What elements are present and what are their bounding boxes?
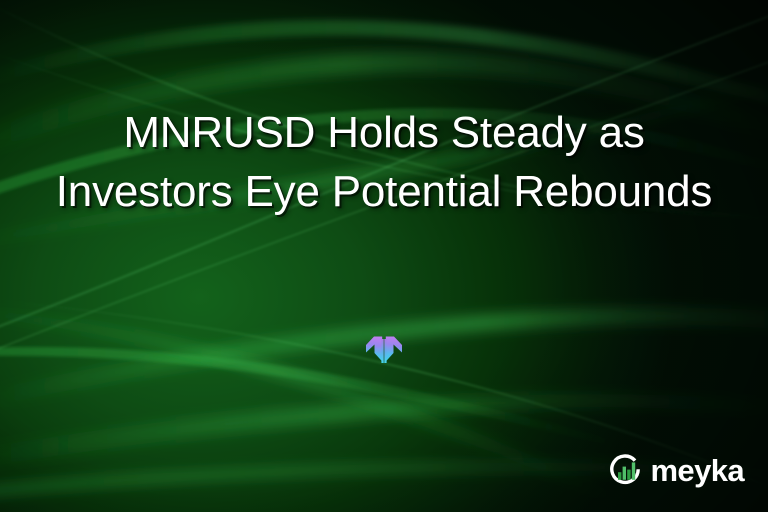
slide-canvas: MNRUSD Holds Steady as Investors Eye Pot… — [0, 0, 768, 512]
brand-lockup: meyka — [605, 450, 744, 490]
brand-wordmark: meyka — [650, 455, 744, 486]
background-wave-bands — [0, 0, 768, 512]
meyka-circle-bars-logo — [605, 450, 645, 490]
gem-diamond-icon — [361, 326, 407, 372]
title-block: MNRUSD Holds Steady as Investors Eye Pot… — [0, 104, 768, 221]
background-light-streaks — [0, 0, 768, 512]
page-title: MNRUSD Holds Steady as Investors Eye Pot… — [48, 104, 720, 221]
background-vignette — [0, 0, 768, 512]
background-gradient — [0, 0, 768, 512]
